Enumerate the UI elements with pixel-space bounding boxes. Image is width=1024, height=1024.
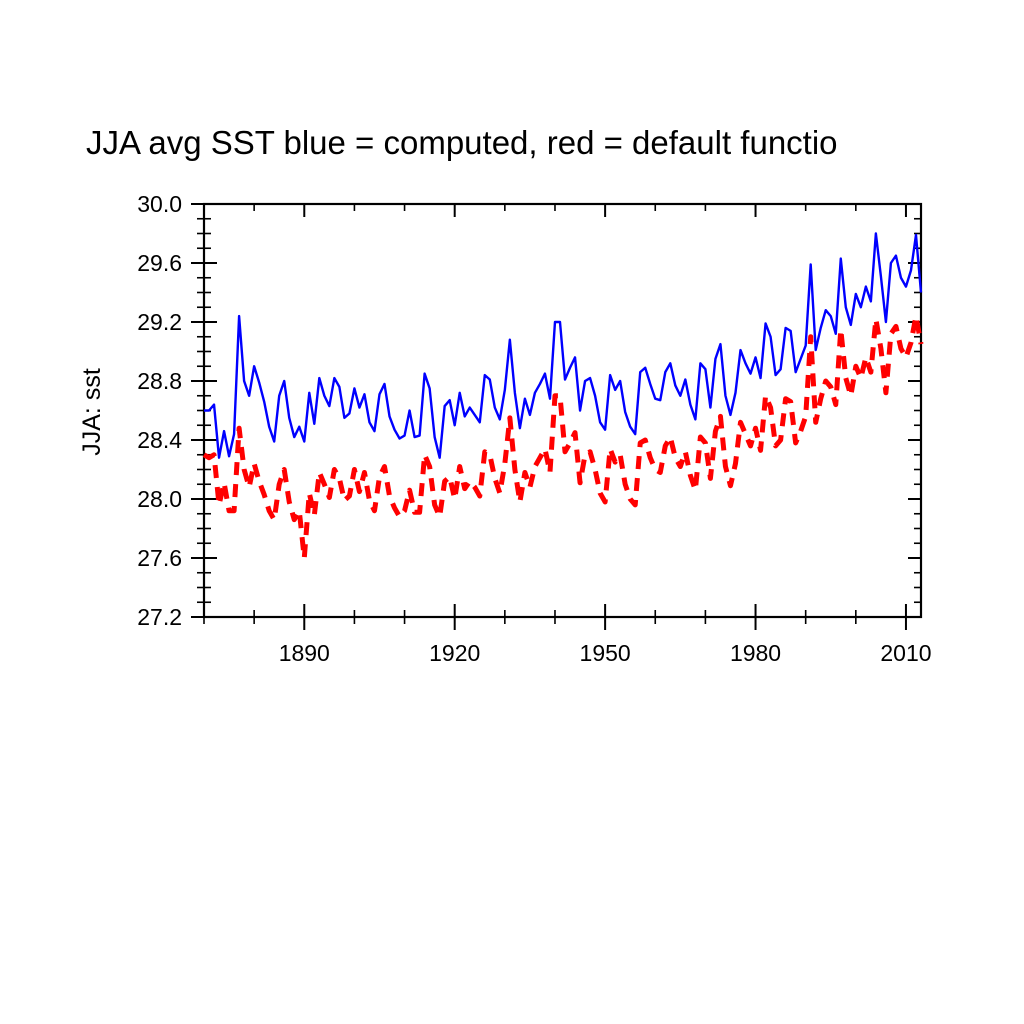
x-axis-tick-labels: 18901920195019802010 xyxy=(279,640,932,666)
x-tick-label: 1980 xyxy=(730,640,781,666)
y-tick-label: 30.0 xyxy=(137,191,182,217)
plot-container: 27.227.628.028.428.829.229.630.0 1890192… xyxy=(0,0,1024,1024)
y-tick-label: 28.8 xyxy=(137,368,182,394)
y-tick-label: 28.4 xyxy=(137,427,182,453)
x-tick-label: 1920 xyxy=(429,640,480,666)
y-axis-title-text: JJA: sst xyxy=(78,368,106,456)
y-tick-label: 27.6 xyxy=(137,545,182,571)
chart-page: JJA avg SST blue = computed, red = defau… xyxy=(0,0,1024,1024)
y-tick-label: 28.0 xyxy=(137,486,182,512)
x-tick-label: 1890 xyxy=(279,640,330,666)
sst-line-chart: 27.227.628.028.428.829.229.630.0 1890192… xyxy=(0,0,1024,1024)
y-axis-title: JJA: sst xyxy=(78,368,106,456)
x-tick-label: 1950 xyxy=(580,640,631,666)
y-tick-label: 27.2 xyxy=(137,604,182,630)
data-series-group xyxy=(204,234,921,559)
y-tick-label: 29.2 xyxy=(137,309,182,335)
x-tick-label: 2010 xyxy=(880,640,931,666)
series-line-computed xyxy=(204,234,921,458)
y-tick-label: 29.6 xyxy=(137,250,182,276)
y-axis-tick-labels: 27.227.628.028.428.829.229.630.0 xyxy=(137,191,182,630)
